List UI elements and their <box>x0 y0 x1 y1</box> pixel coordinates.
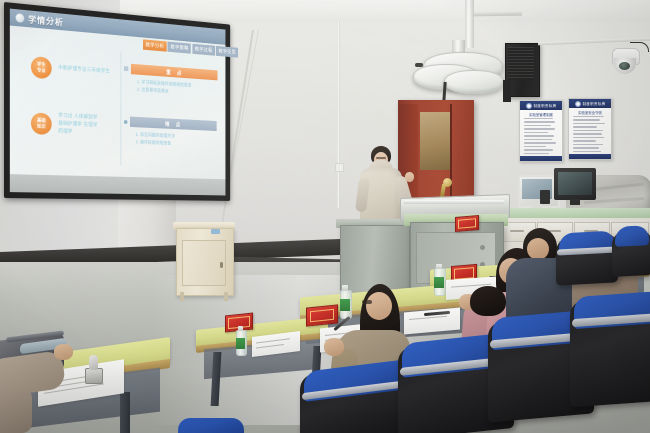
door-window-panel <box>420 112 450 170</box>
lcd-monitor-screen <box>558 172 592 195</box>
poster-text-lines-0 <box>520 118 562 154</box>
attendee-hand <box>324 338 344 356</box>
cabinet-leg <box>180 292 184 301</box>
speaker-mount-bracket <box>503 80 511 102</box>
institution-logo-icon <box>575 101 581 107</box>
exam-table-rail <box>404 200 504 204</box>
attendee-hand-foreground <box>54 344 73 360</box>
poster-header-1: 制度职责标牌 <box>569 99 611 108</box>
circle-bullet-icon <box>16 13 25 23</box>
light-joint <box>415 63 423 67</box>
classroom-photo-scene: 学情分析 教学分析 教学策略 教学过程 教学反思 学生 专业 中职护理专业三年级… <box>0 0 650 433</box>
desktop-device <box>540 190 550 204</box>
ceiling-rail <box>474 12 522 17</box>
poster-subtitle-0: 实验室管理制度 <box>520 112 562 117</box>
attendee-hair <box>470 286 506 316</box>
poster-text-lines-1 <box>569 116 611 152</box>
slide-column-divider <box>120 52 121 166</box>
name-card <box>306 304 338 326</box>
wall-conduit-pipe <box>337 22 340 208</box>
attendee-head <box>527 238 549 260</box>
slide-left-row-1: 基础 知识 学习过 人体解剖学 基础护理学 生理学 药理学 <box>31 111 98 137</box>
poster-footer-0 <box>520 156 562 161</box>
presenter-glasses <box>376 157 386 159</box>
cabinet-knob[interactable] <box>220 262 223 268</box>
handheld-stamp-grip[interactable] <box>89 355 98 370</box>
light-mount-pole <box>465 0 474 48</box>
slide-left-text-1: 学习过 人体解剖学 基础护理学 生理学 药理学 <box>58 113 97 137</box>
wall-poster-1: 制度职责标牌 实验室安全守则 <box>568 98 612 160</box>
drawer-handle <box>510 230 524 232</box>
attendee-glasses <box>362 300 372 304</box>
poster-footer-1 <box>569 154 611 159</box>
slide-badge-1: 基础 知识 <box>31 112 52 135</box>
slide-title: 学情分析 <box>28 13 64 28</box>
camera-lens <box>619 62 630 70</box>
projection-screen: 学情分析 教学分析 教学策略 教学过程 教学反思 学生 专业 中职护理专业三年级… <box>4 2 230 205</box>
cabinet-leg <box>224 292 228 301</box>
slide-tab-0: 教学分析 <box>143 39 167 51</box>
cabinet-label-badge <box>211 229 220 234</box>
slide-left-text-0: 中职护理专业三年级学生 <box>58 65 110 76</box>
speaker-grill <box>508 47 534 80</box>
panel-marker-icon-0 <box>124 66 128 71</box>
surgical-exam-light-head-3 <box>444 70 504 94</box>
slide-tab-3: 教学反思 <box>216 46 238 58</box>
institution-logo-icon <box>526 103 532 109</box>
poster-subtitle-1: 实验室安全守则 <box>569 110 611 115</box>
counter-top <box>492 208 650 218</box>
attendee-shoulder-foreground <box>0 388 32 433</box>
desk-leg <box>120 392 130 433</box>
slide-tab-2: 教学过程 <box>192 44 215 56</box>
poster-header-0: 制度职责标牌 <box>520 101 562 110</box>
handheld-stamp-base[interactable] <box>85 368 103 384</box>
panel-marker-icon-1 <box>124 120 127 123</box>
slide-right-panel-1: 难 点 1. 常见问题的处理方法 2. 操作技能的规范性 <box>124 116 216 149</box>
slide-badge-0: 学生 专业 <box>31 56 52 79</box>
monitor-stand <box>570 199 580 205</box>
demo-table-hole <box>480 245 485 250</box>
slide-right-panel-0: 重 点 1. 学习目标及操作流程规范要求 2. 注意事项及要点 <box>124 63 218 99</box>
slide-tab-1: 教学策略 <box>168 42 191 54</box>
attendee-head <box>366 292 392 320</box>
conduit-clip <box>335 163 344 172</box>
wall-poster-0: 制度职责标牌 实验室管理制度 <box>519 100 563 162</box>
name-card <box>455 215 479 232</box>
presenter-hand <box>405 172 414 182</box>
